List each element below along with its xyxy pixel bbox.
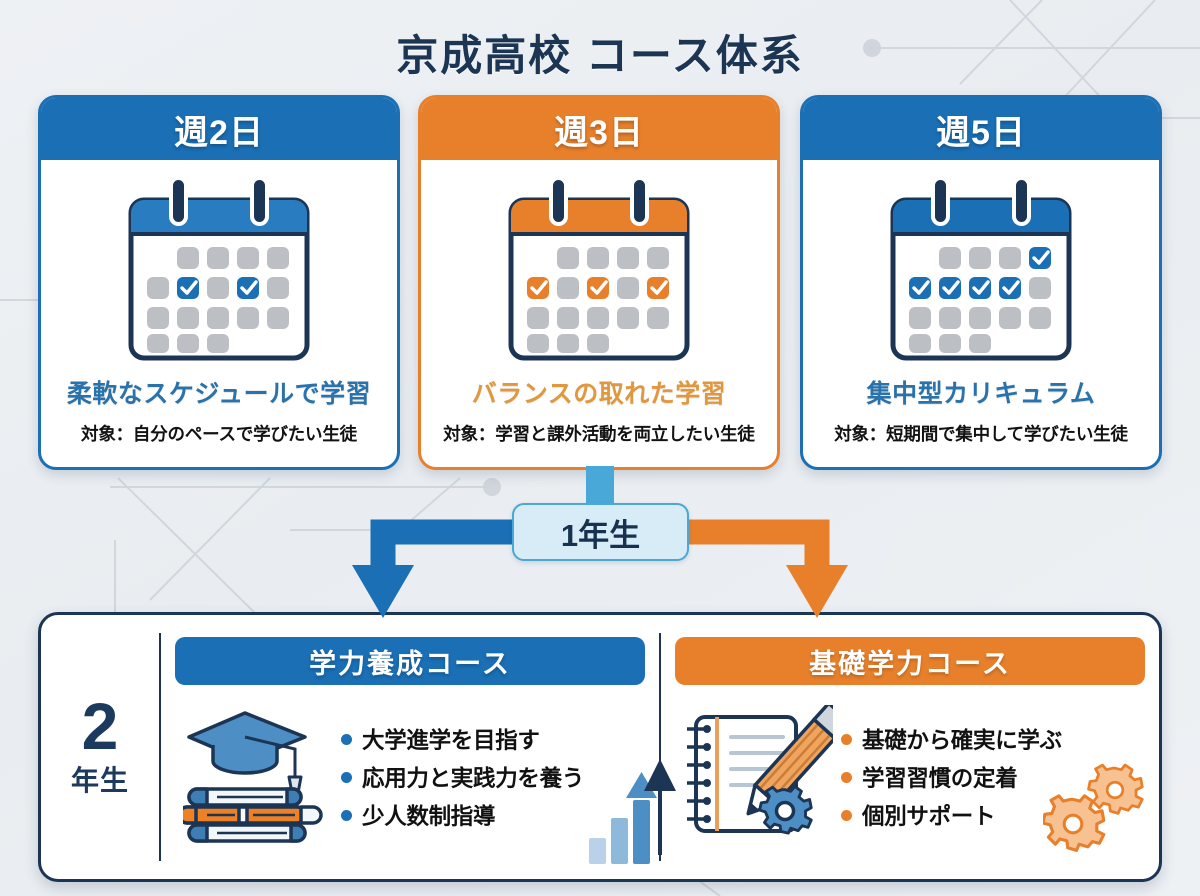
list-item: 学習習慣の定着 bbox=[841, 761, 1062, 793]
calendar-icon bbox=[119, 172, 319, 372]
card-subtitle: 柔軟なスケジュールで学習 bbox=[67, 374, 371, 410]
card-header-label: 週2日 bbox=[41, 98, 397, 160]
course-bullet-list: 基礎から確実に学ぶ 学習習慣の定着 個別サポート bbox=[841, 723, 1062, 831]
grade-1-badge[interactable]: 1年生 bbox=[512, 503, 689, 561]
card-header-label: 週5日 bbox=[803, 98, 1159, 160]
course-card-week2[interactable]: 週2日 bbox=[38, 95, 400, 470]
grade-1-label: 1年生 bbox=[561, 510, 640, 555]
grade-2-label: 年生 bbox=[71, 759, 129, 799]
calendar-icon bbox=[881, 172, 1081, 372]
grade-2-badge: 2 年生 bbox=[41, 615, 159, 879]
list-item: 少人数制指導 bbox=[341, 799, 584, 831]
course-header-label: 学力養成コース bbox=[175, 637, 645, 685]
infographic-canvas: 京成高校 コース体系 週2日 bbox=[0, 0, 1200, 896]
card-header-label: 週3日 bbox=[421, 98, 777, 160]
list-item: 基礎から確実に学ぶ bbox=[841, 723, 1062, 755]
course-column-basic[interactable]: 基礎学力コース bbox=[661, 615, 1159, 879]
notebook-pencil-gear-icon bbox=[683, 705, 833, 850]
graduation-cap-books-icon bbox=[183, 705, 333, 850]
gears-decoration-icon bbox=[1043, 760, 1151, 865]
course-header-label: 基礎学力コース bbox=[675, 637, 1145, 685]
course-card-week5[interactable]: 週5日 bbox=[800, 95, 1162, 470]
list-item: 個別サポート bbox=[841, 799, 1062, 831]
list-item: 大学進学を目指す bbox=[341, 723, 584, 755]
calendar-icon bbox=[499, 172, 699, 372]
list-item: 応用力と実践力を養う bbox=[341, 761, 584, 793]
grade-2-panel: 2 年生 学力養成コース bbox=[38, 612, 1162, 882]
course-column-academic[interactable]: 学力養成コース bbox=[161, 615, 659, 879]
course-card-week3[interactable]: 週3日 bbox=[418, 95, 780, 470]
course-bullet-list: 大学進学を目指す 応用力と実践力を養う 少人数制指導 bbox=[341, 723, 584, 831]
card-subtitle: 集中型カリキュラム bbox=[867, 374, 1096, 410]
card-subtitle: バランスの取れた学習 bbox=[472, 374, 727, 410]
card-target-text: 対象：短期間で集中して学びたい生徒 bbox=[834, 421, 1128, 446]
grade-2-number: 2 bbox=[82, 695, 119, 758]
page-title: 京成高校 コース体系 bbox=[0, 22, 1200, 83]
card-target-text: 対象：学習と課外活動を両立したい生徒 bbox=[443, 421, 754, 446]
card-target-text: 対象：自分のペースで学びたい生徒 bbox=[81, 421, 357, 446]
